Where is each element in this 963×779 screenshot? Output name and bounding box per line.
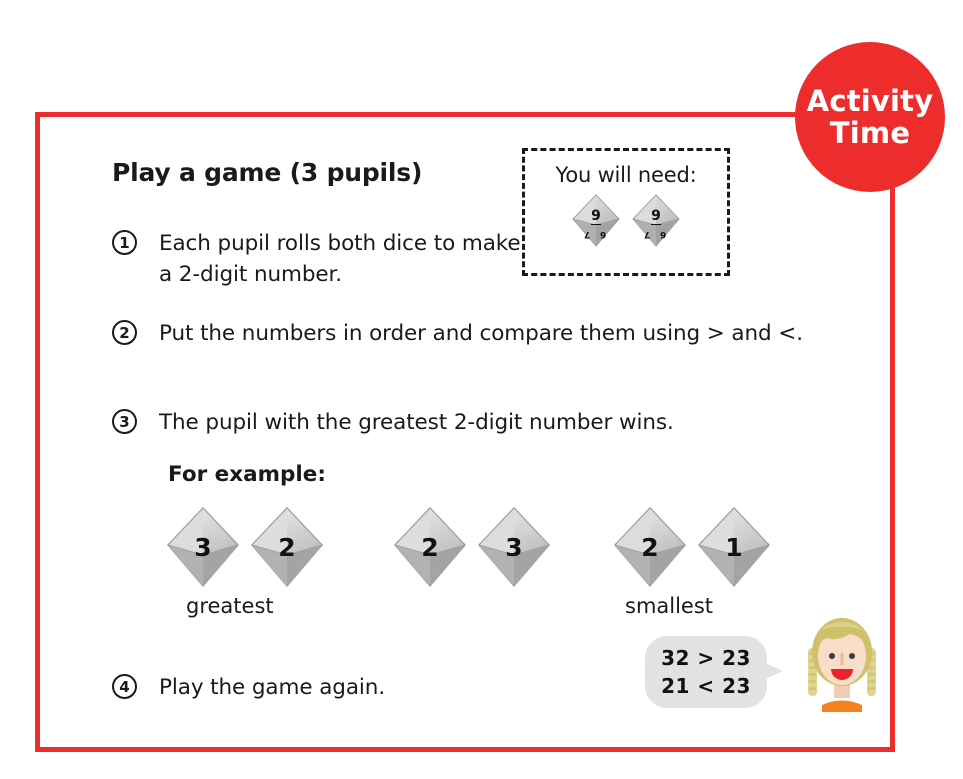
die-small-2-right-value: 6 [660,229,666,239]
badge-line-1: Activity [807,85,934,117]
die-small-2-left-value: 7 [644,229,650,239]
step-3: 3 The pupil with the greatest 2-digit nu… [112,407,812,438]
step-3-number: 3 [112,409,137,434]
you-will-need-title: You will need: [556,163,697,187]
you-will-need-box: You will need: 9 7 [522,148,730,276]
step-2: 2 Put the numbers in order and compare t… [112,318,812,349]
step-2-text: Put the numbers in order and compare the… [159,318,803,349]
dice-group-smallest: 2 1 [612,505,772,589]
die-b1: 2 [392,505,468,589]
die-small-1-left-value: 7 [584,229,590,239]
speech-bubble-line-1: 32 > 23 [661,644,751,672]
die-c1: 2 [612,505,688,589]
page-title: Play a game (3 pupils) [112,158,422,187]
die-a2: 2 [249,505,325,589]
step-4: 4 Play the game again. [112,672,612,703]
step-1: 1 Each pupil rolls both dice to make a 2… [112,228,532,290]
step-4-text: Play the game again. [159,672,385,703]
girl-pupil-avatar [790,608,894,720]
caption-greatest: greatest [186,594,274,618]
dice-group-greatest: 3 2 [165,505,325,589]
for-example-label: For example: [168,462,326,487]
die-small-1-right-value: 6 [600,229,606,239]
speech-bubble: 32 > 23 21 < 23 [645,636,767,708]
dice-group-middle: 2 3 [392,505,552,589]
speech-bubble-line-2: 21 < 23 [661,672,751,700]
caption-smallest: smallest [625,594,713,618]
die-c2: 1 [696,505,772,589]
die-small-2: 9 7 6 [631,193,681,248]
you-will-need-dice: 9 7 6 9 [571,193,681,248]
step-3-text: The pupil with the greatest 2-digit numb… [159,407,674,438]
die-a1: 3 [165,505,241,589]
die-b2: 3 [476,505,552,589]
badge-line-2: Time [830,117,910,149]
worksheet-page: Activity Time Play a game (3 pupils) You… [0,0,963,779]
step-1-number: 1 [112,230,137,255]
step-1-text: Each pupil rolls both dice to make a 2-d… [159,228,532,290]
step-2-number: 2 [112,320,137,345]
step-4-number: 4 [112,674,137,699]
speech-bubble-tail [763,662,783,680]
activity-time-badge: Activity Time [795,42,945,192]
die-small-1: 9 7 6 [571,193,621,248]
